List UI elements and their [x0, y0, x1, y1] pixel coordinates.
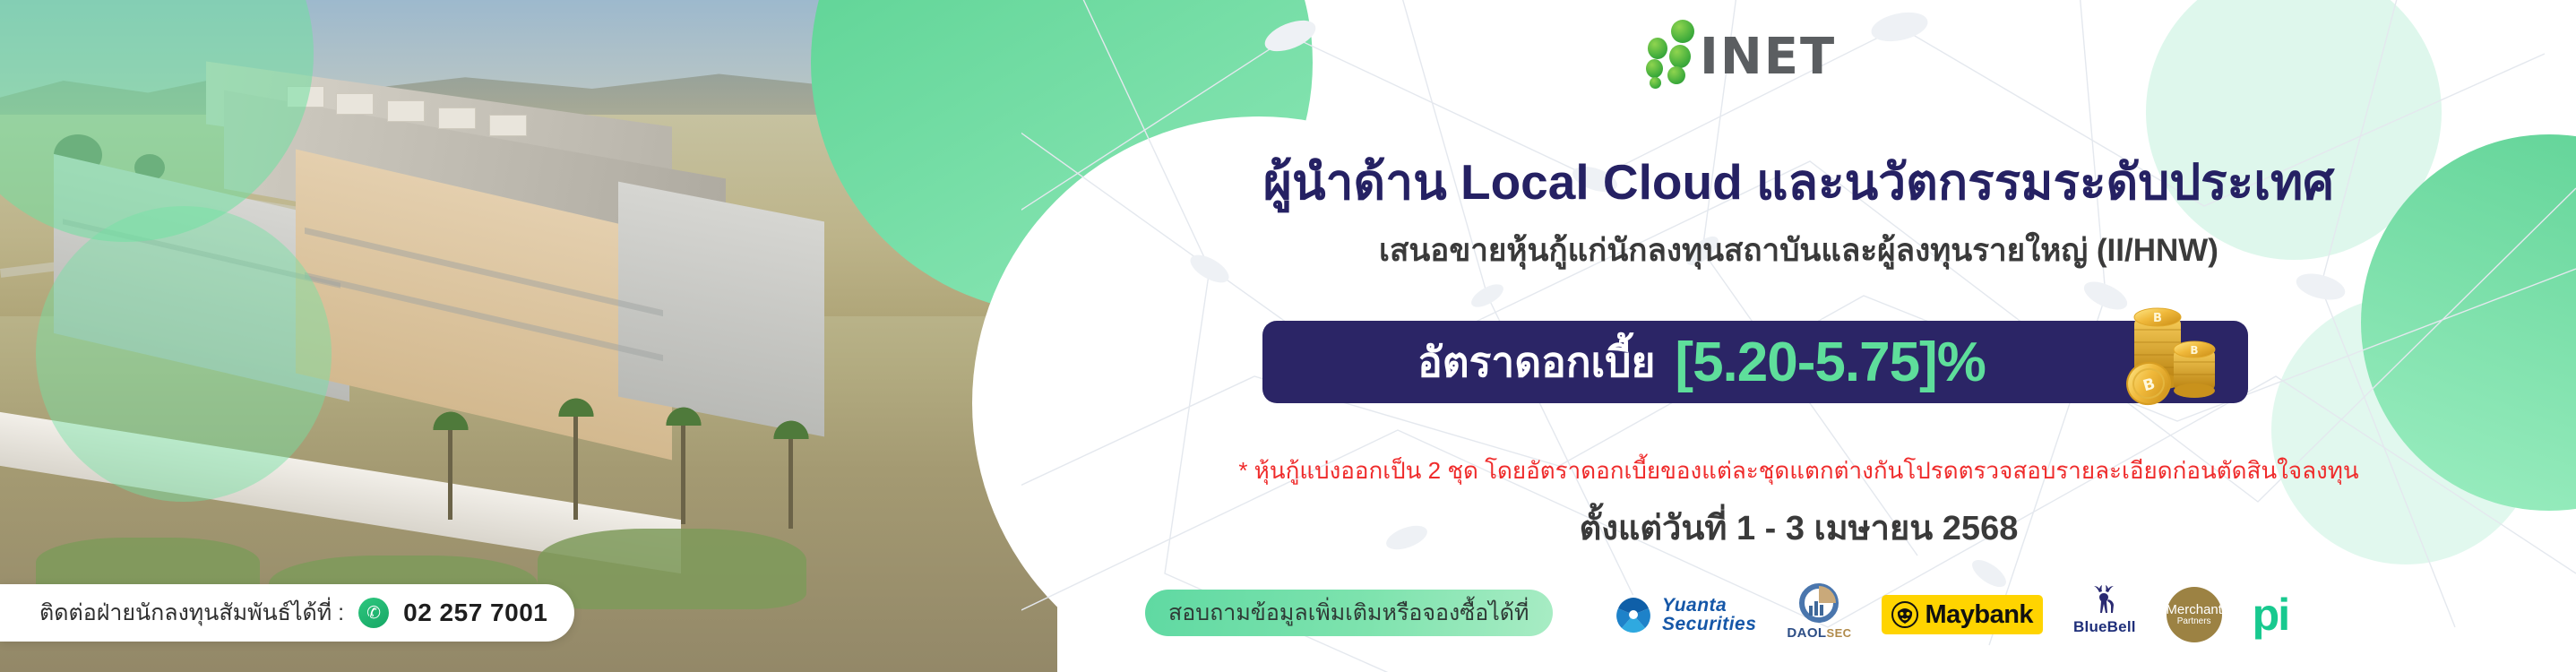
bluebell-wordmark: BlueBell [2073, 618, 2136, 636]
contact-phone-number[interactable]: 02 257 7001 [403, 599, 547, 627]
merchant-line2: Partners [2177, 617, 2211, 627]
investor-relations-contact-card[interactable]: ติดต่อฝ่ายนักลงทุนสัมพันธ์ได้ที่ : ✆ 02 … [0, 584, 574, 642]
pi-logo-icon: pi [2253, 594, 2288, 635]
daol-line1: DAOL [1787, 625, 1826, 641]
maybank-tiger-icon [1891, 601, 1918, 628]
page-title: ผู้นำด้าน Local Cloud และนวัตกรรมระดับปร… [1021, 143, 2576, 221]
inet-dots-logo [1644, 16, 1700, 81]
yuanta-mark-icon [1613, 594, 1654, 635]
inet-wordmark: INET [1700, 33, 1836, 81]
photo-palm-tree [448, 421, 452, 520]
photo-rooftop-unit [438, 108, 476, 129]
interest-rate-value: [5.20-5.75]% [1675, 331, 1985, 394]
merchant-line1: Merchant [2166, 603, 2222, 617]
rate-disclaimer-note: * หุ้นกู้แบ่งออกเป็น 2 ชุด โดยอัตราดอกเบ… [1021, 452, 2576, 489]
svg-text:B: B [2153, 312, 2162, 325]
yuanta-line1: Yuanta [1662, 596, 1756, 615]
photo-rooftop-unit [387, 100, 425, 122]
photo-rooftop-unit [489, 115, 527, 136]
photo-palm-tree [573, 408, 578, 520]
partner-logo-row: Yuanta Securities DAOLSEC [1613, 581, 2288, 649]
promotional-banner: ติดต่อฝ่ายนักลงทุนสัมพันธ์ได้ที่ : ✆ 02 … [0, 0, 2576, 672]
subscribe-info-button[interactable]: สอบถามข้อมูลเพิ่มเติมหรือจองซื้อได้ที่ [1145, 590, 1553, 636]
page-subtitle: เสนอขายหุ้นกู้แก่นักลงทุนสถาบันและผู้ลงท… [1021, 226, 2576, 275]
merchant-circle-icon: Merchant Partners [2167, 587, 2222, 642]
photo-shrub [538, 529, 806, 609]
photo-rooftop-unit [336, 93, 374, 115]
inet-logo[interactable]: INET [1644, 16, 1836, 81]
interest-rate-section: อัตราดอกเบี้ย [5.20-5.75]% [1262, 321, 2248, 403]
interest-rate-box: อัตราดอกเบี้ย [5.20-5.75]% [1262, 321, 2248, 403]
partner-logo-bluebell[interactable]: BlueBell [2073, 582, 2136, 647]
decorative-green-blob [36, 206, 332, 502]
bluebell-deer-icon [2087, 582, 2123, 618]
partner-logo-merchant[interactable]: Merchant Partners [2167, 582, 2222, 647]
partner-logo-maybank[interactable]: Maybank [1882, 582, 2043, 647]
contact-label: ติดต่อฝ่ายนักลงทุนสัมพันธ์ได้ที่ : [39, 595, 344, 631]
maybank-wordmark: Maybank [1925, 600, 2033, 630]
phone-icon: ✆ [358, 598, 389, 628]
yuanta-line2: Securities [1662, 615, 1756, 633]
daol-mark-icon [1796, 582, 1842, 624]
photo-palm-tree [788, 430, 793, 529]
interest-rate-label: อัตราดอกเบี้ย [1417, 330, 1655, 395]
daol-line2: SEC [1827, 626, 1852, 640]
partner-logo-yuanta[interactable]: Yuanta Securities [1613, 582, 1756, 647]
partner-logo-daol[interactable]: DAOLSEC [1787, 582, 1851, 647]
photo-palm-tree [681, 417, 685, 524]
svg-text:B: B [2190, 344, 2198, 357]
partner-logo-pi[interactable]: pi [2253, 582, 2288, 647]
gold-coin-stack-icon: B B B [2107, 297, 2228, 407]
offering-date-range: ตั้งแต่วันที่ 1 - 3 เมษายน 2568 [1021, 500, 2576, 555]
